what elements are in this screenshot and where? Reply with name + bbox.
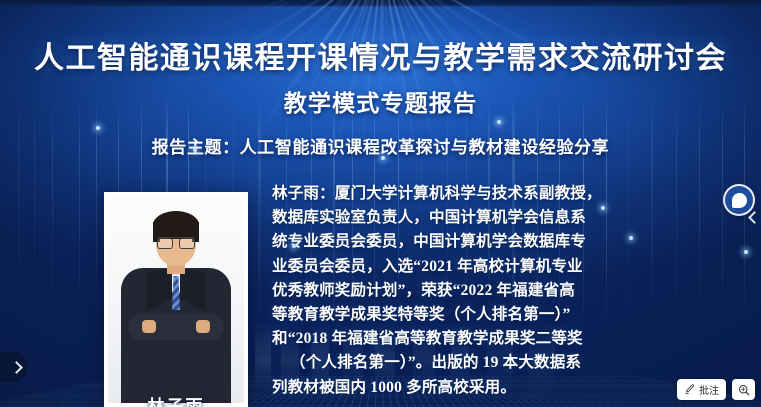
light-beam (722, 96, 723, 326)
slide-subtitle: 教学模式专题报告 (0, 84, 761, 118)
magnifier-plus-icon (738, 384, 750, 396)
slide-viewer: 人工智能通识课程开课情况与教学需求交流研讨会 教学模式专题报告 报告主题：人工智… (0, 0, 761, 407)
light-dot (96, 126, 100, 130)
light-dot (381, 156, 385, 160)
chevron-right-icon (10, 361, 23, 374)
light-dot (744, 250, 748, 254)
speaker-bio-line: 等教育教学成果奖特等奖（个人排名第一）” (272, 303, 702, 327)
light-beam (34, 96, 35, 326)
speaker-bio-line: 数据库实验室负责人，中国计算机学会信息系 (272, 206, 702, 230)
speaker-bio-text: 林子雨：厦门大学计算机科学与技术系副教授，数据库实验室负责人，中国计算机学会信息… (272, 182, 702, 400)
light-dot (193, 148, 197, 152)
chevron-left-icon (748, 211, 761, 224)
light-dot (497, 120, 501, 124)
light-beam (52, 96, 53, 326)
light-beam (18, 96, 20, 326)
slide-main-title: 人工智能通识课程开课情况与教学需求交流研讨会 (0, 33, 761, 77)
speaker-bio-line: 优秀教师奖励计划”，荣获“2022 年福建省高 (272, 279, 702, 303)
speaker-photo (104, 192, 248, 407)
light-dot (292, 244, 296, 248)
zoom-in-button[interactable] (732, 379, 755, 400)
speaker-name-caption: 林子雨 (104, 392, 248, 407)
speaker-bio-line: 林子雨：厦门大学计算机科学与技术系副教授， (272, 182, 702, 206)
speaker-bio-line: 和“2018 年福建省高等教育教学成果奖二等奖 (272, 327, 702, 351)
portrait-hand-left (142, 320, 156, 333)
light-beam (258, 96, 261, 326)
right-panel-toggle[interactable] (748, 205, 760, 229)
slide-topic-line: 报告主题：人工智能通识课程改革探讨与教材建设经验分享 (0, 133, 761, 158)
portrait-hand-right (196, 320, 210, 333)
light-beam (96, 96, 97, 326)
chat-bubble-icon (732, 193, 747, 208)
pen-icon (684, 384, 695, 395)
speaker-photo-inner (108, 196, 244, 403)
light-beam (79, 96, 80, 326)
speaker-bio-line: 列教材被国内 1000 多所高校采用。 (272, 376, 702, 400)
slide-toolbar: 批注 (677, 379, 755, 400)
speaker-bio-line: 统专业委员会委员，中国计算机学会数据库专 (272, 230, 702, 254)
annotate-button[interactable]: 批注 (677, 379, 726, 400)
portrait-glasses (157, 237, 195, 248)
annotate-button-label: 批注 (699, 382, 719, 397)
speaker-bio-line: 业委员会委员，入选“2021 年高校计算机专业 (272, 255, 702, 279)
speaker-bio-line: （个人排名第一）”。出版的 19 本大数据系 (272, 351, 702, 375)
light-dot (629, 236, 633, 240)
light-dot (601, 206, 605, 210)
